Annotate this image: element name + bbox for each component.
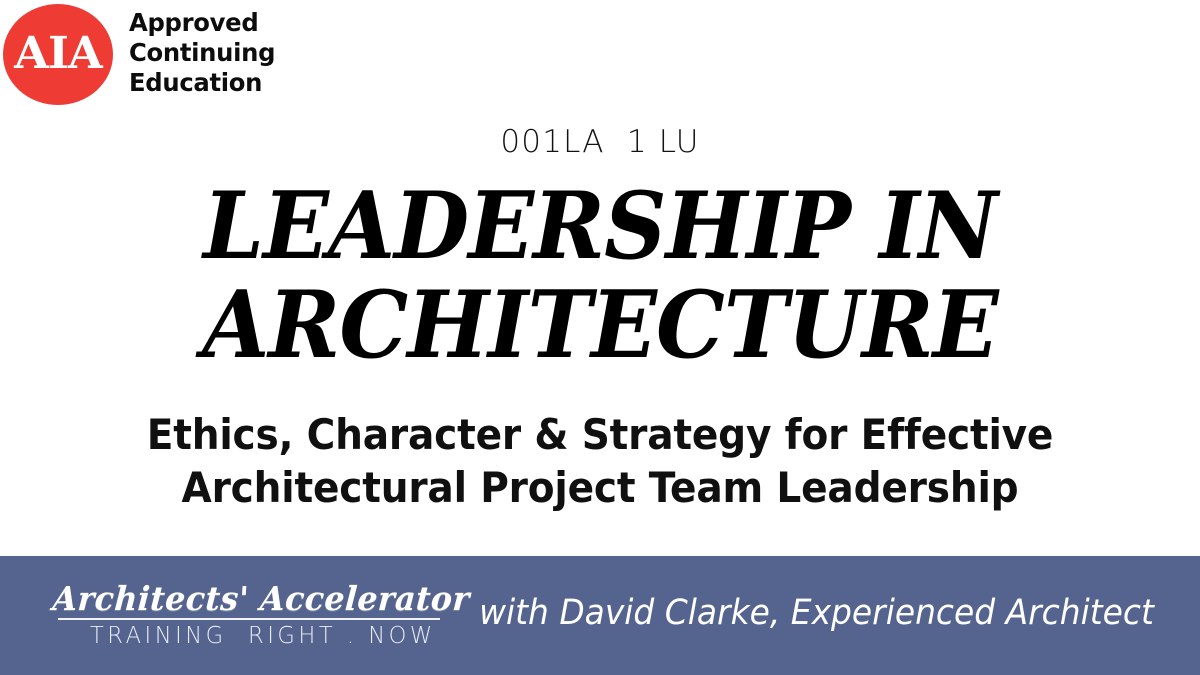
slide-subtitle: Ethics, Character & Strategy for Effecti… <box>0 408 1200 514</box>
brand-logo-tagline: TRAINING RIGHT . NOW <box>90 623 436 650</box>
presenter-credit: with David Clarke, Experienced Architect <box>479 592 1154 634</box>
aia-caption-line-1: Approved <box>129 8 275 38</box>
brand-logo-wordmark: Architects' Accelerator <box>52 580 471 617</box>
brand-logo: Architects' Accelerator TRAINING RIGHT .… <box>50 580 450 652</box>
slide-title-line-2: ARCHITECTURE <box>42 275 1158 374</box>
slide-title-line-1: LEADERSHIP IN <box>42 176 1158 275</box>
course-code-credits: 001LA 1 LU <box>0 124 1200 160</box>
presentation-title-slide: AIA Approved Continuing Education 001LA … <box>0 0 1200 675</box>
slide-subtitle-line-2: Architectural Project Team Leadership <box>42 461 1158 514</box>
slide-title: LEADERSHIP IN ARCHITECTURE <box>0 176 1200 374</box>
slide-subtitle-line-1: Ethics, Character & Strategy for Effecti… <box>42 408 1158 461</box>
brand-logo-divider <box>58 618 440 620</box>
aia-accreditation-block: AIA Approved Continuing Education <box>0 0 420 115</box>
aia-caption: Approved Continuing Education <box>129 8 275 98</box>
aia-caption-line-2: Continuing <box>129 38 275 68</box>
aia-caption-line-3: Education <box>129 68 275 98</box>
footer-band: Architects' Accelerator TRAINING RIGHT .… <box>0 556 1200 675</box>
aia-seal-icon: AIA <box>3 4 113 105</box>
aia-seal-label: AIA <box>14 32 102 76</box>
